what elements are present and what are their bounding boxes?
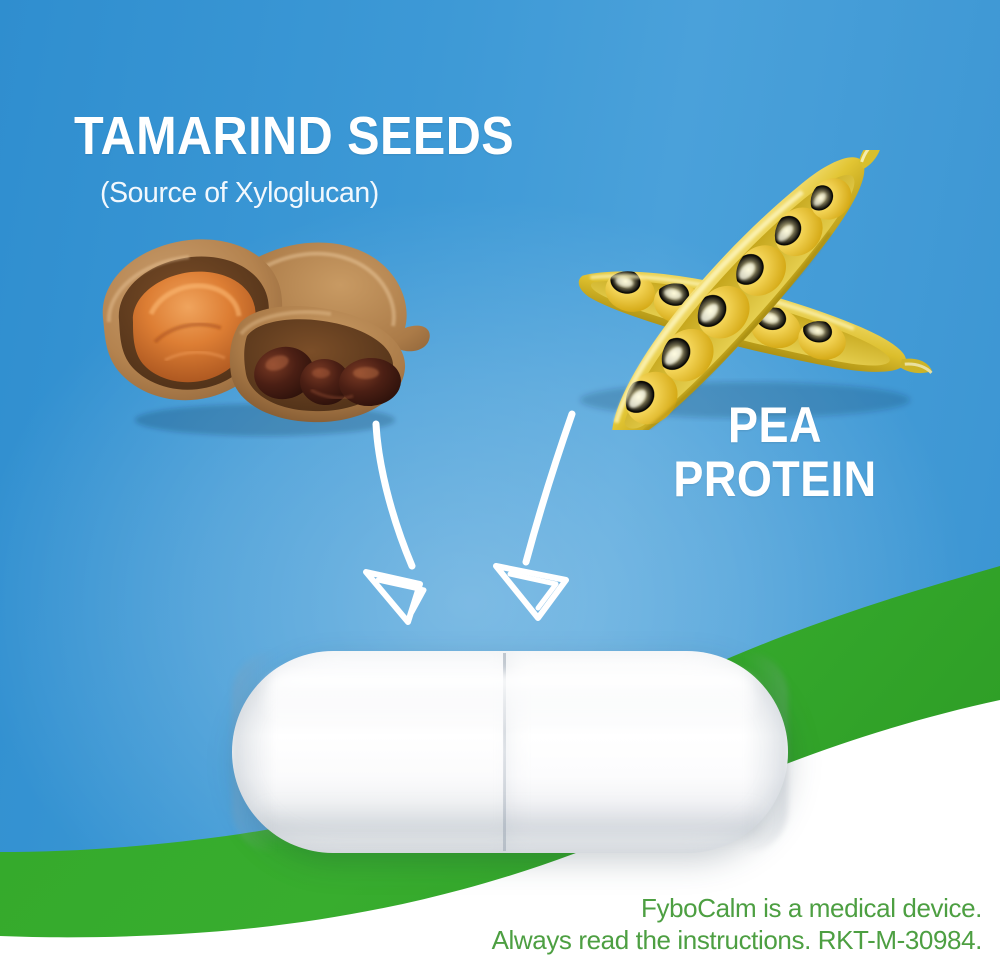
- arrow-right-shape: [496, 414, 572, 618]
- capsule-right-rim-shade: [744, 651, 788, 853]
- pea-pods-image: [550, 150, 940, 430]
- capsule-lowlight: [258, 801, 762, 835]
- capsule-highlight: [262, 673, 758, 727]
- disclaimer-line-1: FyboCalm is a medical device.: [492, 892, 982, 924]
- arrow-left-shape: [366, 424, 424, 622]
- white-capsule: [232, 651, 788, 853]
- pea-title-line-2: PROTEIN: [663, 452, 888, 506]
- legal-disclaimer: FyboCalm is a medical device. Always rea…: [492, 892, 982, 956]
- tamarind-title: TAMARIND SEEDS: [74, 108, 514, 164]
- capsule-left-rim-shade: [232, 651, 276, 853]
- tamarind-subtitle: (Source of Xyloglucan): [100, 176, 379, 210]
- advertisement-canvas: TAMARIND SEEDS (Source of Xyloglucan) PE…: [0, 0, 1000, 972]
- disclaimer-line-2: Always read the instructions. RKT-M-3098…: [492, 924, 982, 956]
- pea-title-line-1: PEA: [663, 398, 888, 452]
- curved-arrows-to-capsule: [360, 410, 610, 630]
- tamarind-seeds-image: [85, 222, 435, 442]
- pea-protein-title: PEA PROTEIN: [663, 398, 888, 506]
